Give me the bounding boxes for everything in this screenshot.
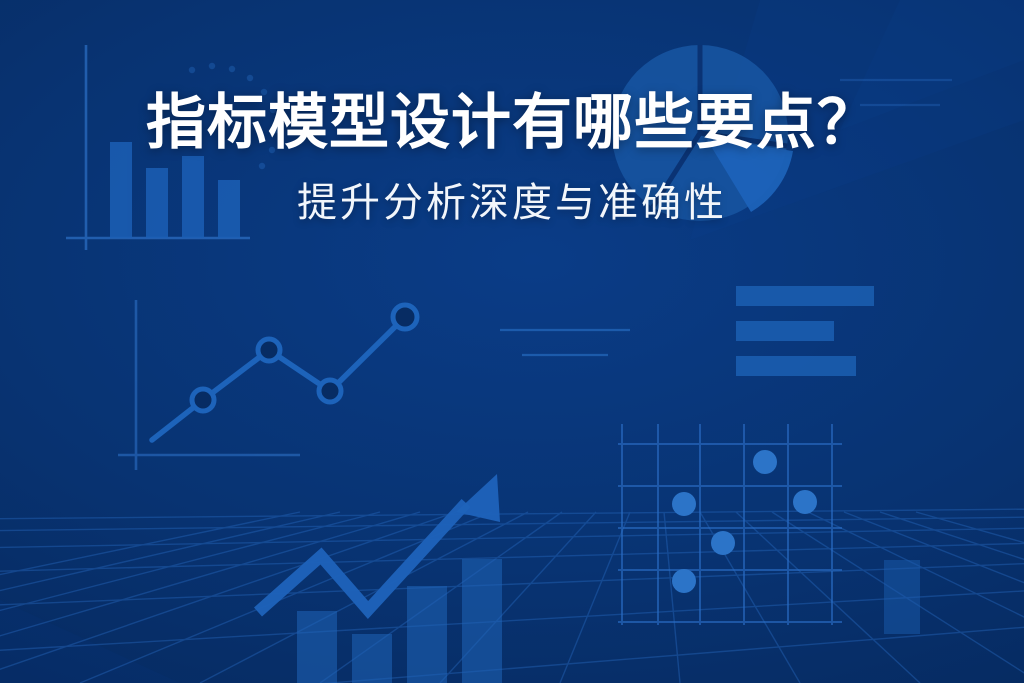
page-title: 指标模型设计有哪些要点？ [0,88,1024,157]
line-chart-axes [118,300,300,470]
poster-canvas: 指标模型设计有哪些要点？ 提升分析深度与准确性 [0,0,1024,683]
page-subtitle: 提升分析深度与准确性 [297,179,727,227]
horizontal-bar-list [736,286,874,376]
scatter-grid-dots [672,450,817,593]
accent-square [884,560,920,634]
subtitle-row: 提升分析深度与准确性 [0,179,1024,227]
scatter-grid-lines [618,424,842,625]
scatter-grid-chart [618,424,842,625]
growth-arrow-line [258,503,466,612]
growth-arrow-head [456,474,500,522]
growth-arrow-bars [297,559,502,683]
line-chart-markers [192,305,417,411]
growth-arrow-chart [258,474,502,683]
headline-block: 指标模型设计有哪些要点？ 提升分析深度与准确性 [0,88,1024,227]
line-chart-path [152,317,405,440]
line-chart [118,300,417,470]
thin-rule-lines [500,330,630,355]
perspective-floor-grid [0,509,1024,683]
